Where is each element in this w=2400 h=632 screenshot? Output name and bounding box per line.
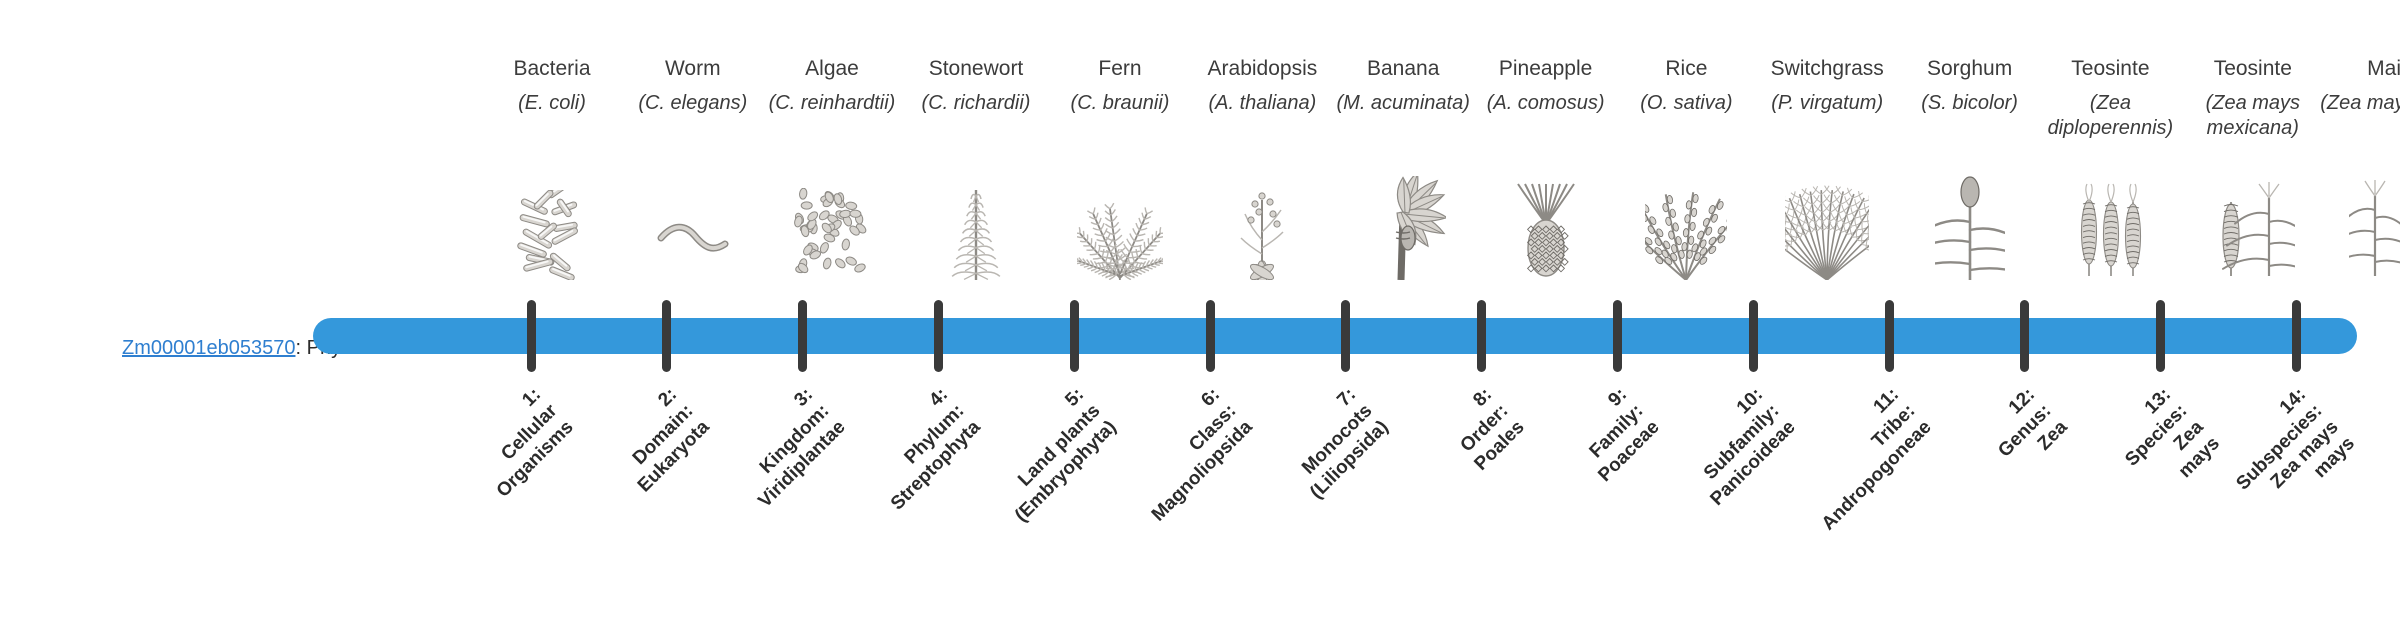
species-common-name: Fern (1045, 56, 1195, 82)
species-column-stonewort-3: Stonewort(C. richardii) (901, 56, 1051, 116)
species-column-rice-8: Rice(O. sativa) (1611, 56, 1761, 116)
gene-label-separator: : (295, 337, 306, 359)
species-scientific-name: (Zea diploperennis) (2035, 91, 2185, 141)
species-column-arabidopsis-5: Arabidopsis(A. thaliana) (1187, 56, 1337, 116)
species-scientific-name: (C. elegans) (618, 91, 768, 116)
phylostratum-label-wrap-4: 4: Phylum: Streptophyta (938, 382, 940, 384)
species-scientific-name: (O. sativa) (1611, 91, 1761, 116)
phylostratum-label-wrap-11: 11: Tribe: Andropogoneae (1889, 382, 1891, 384)
phylostratum-label-wrap-14: 14: Subspecies: Zea mays mays (2296, 382, 2298, 384)
species-scientific-name: (S. bicolor) (1895, 91, 2045, 116)
phylostratum-label-wrap-12: 12: Genus: Zea (2025, 382, 2027, 384)
phylostratum-label-wrap-13: 13: Species: Zea mays (2161, 382, 2163, 384)
species-common-name: Bacteria (477, 56, 627, 82)
species-common-name: Switchgrass (1752, 56, 1902, 82)
phylostratum-label-wrap-2: 2: Domain: Eukaryota (667, 382, 669, 384)
species-common-name: Algae (757, 56, 907, 82)
species-common-name: Rice (1611, 56, 1761, 82)
species-scientific-name: (C. reinhardtii) (757, 91, 907, 116)
phylostratum-label-wrap-6: 6: Class: Magnoliopsida (1210, 382, 1212, 384)
species-scientific-name: (C. richardii) (901, 91, 1051, 116)
species-scientific-name: (Zea mays mays) (2320, 91, 2400, 116)
timeline-tick-1[interactable] (527, 300, 536, 372)
bacteria-rods-icon (477, 168, 627, 280)
phylostratum-label-wrap-5: 5: Land plants (Embryophyta) (1074, 382, 1076, 384)
species-column-banana-6: Banana(M. acuminata) (1328, 56, 1478, 116)
species-common-name: Maize (2320, 56, 2400, 82)
species-column-pineapple-7: Pineapple(A. comosus) (1471, 56, 1621, 116)
species-scientific-name: (Zea mays mexicana) (2178, 91, 2328, 141)
species-common-name: Worm (618, 56, 768, 82)
phylostratum-label-wrap-1: 1: Cellular Organisms (531, 382, 533, 384)
species-scientific-name: (M. acuminata) (1328, 91, 1478, 116)
species-common-name: Pineapple (1471, 56, 1621, 82)
species-common-name: Teosinte (2178, 56, 2328, 82)
species-column-fern-4: Fern(C. braunii) (1045, 56, 1195, 116)
species-column-algae-2: Algae(C. reinhardtii) (757, 56, 907, 116)
species-scientific-name: (A. thaliana) (1187, 91, 1337, 116)
gene-id-link[interactable]: Zm00001eb053570 (122, 337, 295, 359)
species-column-sorghum-10: Sorghum(S. bicolor) (1895, 56, 2045, 116)
phylostratum-label-wrap-8: 8: Order: Poales (1482, 382, 1484, 384)
phylostratum-label-wrap-9: 9: Family: Poaceae (1617, 382, 1619, 384)
species-column-maize-13: Maize(Zea mays mays) (2320, 56, 2400, 116)
species-scientific-name: (C. braunii) (1045, 91, 1195, 116)
phylostratigraphy-diagram: Zm00001eb053570: Phylostratum 1 Bacteria… (0, 0, 2400, 580)
species-column-worm-1: Worm(C. elegans) (618, 56, 768, 116)
species-column-bacteria-0: Bacteria(E. coli) (477, 56, 627, 116)
species-scientific-name: (A. comosus) (1471, 91, 1621, 116)
species-common-name: Arabidopsis (1187, 56, 1337, 82)
species-common-name: Banana (1328, 56, 1478, 82)
species-common-name: Teosinte (2035, 56, 2185, 82)
species-scientific-name: (E. coli) (477, 91, 627, 116)
species-column-teosinte-12: Teosinte(Zea mays mexicana) (2178, 56, 2328, 141)
phylostratum-label-wrap-3: 3: Kingdom: Viridiplantae (803, 382, 805, 384)
phylostratum-label-wrap-7: 7: Monocots (Liliopsida) (1346, 382, 1348, 384)
species-column-switchgrass-9: Switchgrass(P. virgatum) (1752, 56, 1902, 116)
species-common-name: Stonewort (901, 56, 1051, 82)
phylostratum-label-wrap-10: 10: Subfamily: Panicoideae (1753, 382, 1755, 384)
species-column-teosinte-11: Teosinte(Zea diploperennis) (2035, 56, 2185, 141)
species-common-name: Sorghum (1895, 56, 2045, 82)
species-scientific-name: (P. virgatum) (1752, 91, 1902, 116)
